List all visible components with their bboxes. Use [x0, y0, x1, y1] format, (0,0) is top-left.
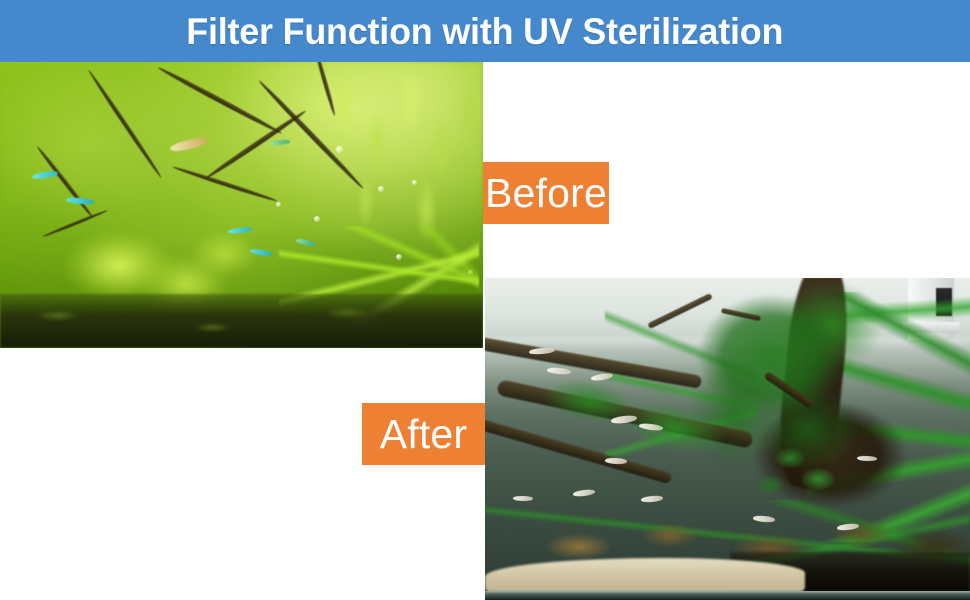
fish [513, 496, 533, 502]
before-photo [0, 62, 483, 348]
gravel-substrate [0, 294, 483, 348]
header-banner: Filter Function with UV Sterilization [0, 0, 970, 62]
before-label-text: Before [485, 173, 607, 214]
after-photo [485, 278, 970, 600]
before-label-badge: Before [483, 162, 609, 224]
bubble [314, 216, 320, 222]
bubble [336, 146, 343, 153]
after-label-badge: After [362, 403, 485, 465]
sand-substrate [485, 558, 805, 592]
anubias-leaf [775, 448, 805, 468]
after-label-text: After [380, 414, 468, 455]
bubble [412, 180, 417, 185]
promo-banner: Filter Function with UV Sterilization [0, 0, 970, 600]
bubble [276, 202, 281, 207]
tank-bottom-rim [485, 591, 970, 600]
page-title: Filter Function with UV Sterilization [186, 13, 783, 50]
bubble [378, 186, 384, 192]
